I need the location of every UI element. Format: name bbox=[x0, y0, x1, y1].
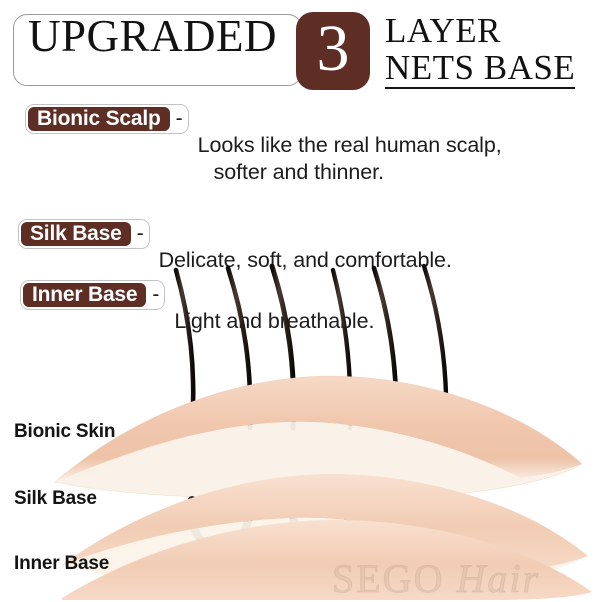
feature-desc-line1: Looks like the real human scalp, bbox=[198, 133, 502, 157]
infographic-root: UPGRADED 3 LAYER NETS BASE Bionic Scalp … bbox=[0, 0, 600, 600]
badge-separator-dash: - bbox=[133, 220, 149, 248]
badge-group-bionic-scalp: Bionic Scalp - bbox=[25, 104, 189, 134]
badge-bionic-scalp: Bionic Scalp bbox=[26, 105, 172, 133]
upgraded-title: UPGRADED bbox=[28, 13, 277, 59]
feature-row-bionic-scalp: Bionic Scalp - Looks like the real human… bbox=[25, 104, 600, 213]
layer-title-line1: LAYER bbox=[385, 12, 600, 49]
label-silk-base: Silk Base bbox=[14, 488, 97, 510]
badge-group-silk-base: Silk Base - bbox=[18, 219, 150, 249]
brand-watermark: SEGO Hair bbox=[332, 555, 540, 602]
badge-separator-dash: - bbox=[172, 105, 188, 133]
layer-nets-base-title: LAYER NETS BASE bbox=[385, 12, 600, 89]
feature-desc-line2: softer and thinner. bbox=[198, 159, 502, 186]
badge-silk-base: Silk Base bbox=[19, 220, 133, 248]
watermark-brand-suffix: Hair bbox=[444, 556, 540, 601]
three-badge: 3 bbox=[296, 12, 370, 90]
label-inner-base: Inner Base bbox=[14, 553, 109, 575]
watermark-brand: SEGO bbox=[332, 556, 444, 601]
feature-description-bionic-scalp: Looks like the real human scalp, softer … bbox=[198, 104, 502, 213]
label-bionic-skin: Bionic Skin bbox=[14, 421, 115, 443]
layer-title-line2: NETS BASE bbox=[385, 49, 575, 89]
three-number: 3 bbox=[296, 12, 370, 90]
header-banner: UPGRADED 3 LAYER NETS BASE bbox=[0, 0, 600, 100]
